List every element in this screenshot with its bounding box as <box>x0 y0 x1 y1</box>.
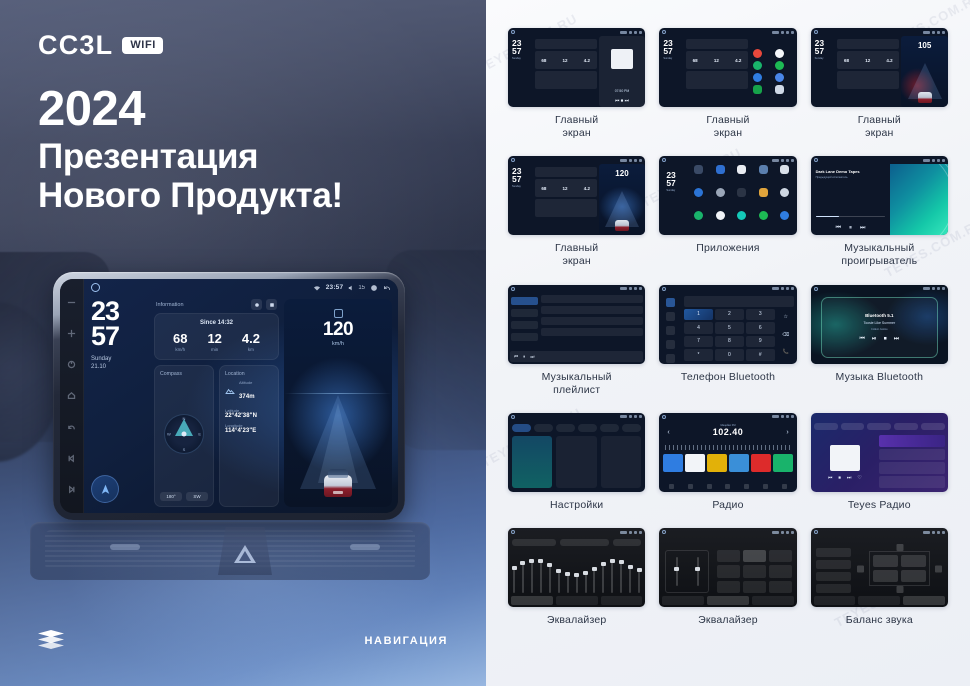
eq-preset-grid[interactable] <box>717 550 792 593</box>
progress-bar[interactable] <box>816 216 886 218</box>
balance-up-icon[interactable] <box>896 544 903 551</box>
altitude-value: 374m <box>239 394 255 400</box>
preset-button <box>663 454 683 472</box>
head-unit-screen[interactable]: 23:57 15 23 <box>84 279 398 513</box>
speaker-rl <box>873 570 898 582</box>
thumb-status-bar <box>811 156 948 164</box>
next-track-icon[interactable]: ⏭ <box>860 225 865 231</box>
thumbnail-caption: Teyes Радио <box>848 499 911 512</box>
screen-thumbnail-playlist[interactable]: ⏮⏸⏭ <box>508 285 645 364</box>
eq-slider <box>522 561 524 593</box>
track-artist: Предыдущий исполнитель <box>816 176 886 179</box>
stat-speed: 68 km/h <box>173 332 187 352</box>
speed-camera-icon <box>334 309 343 318</box>
prev-track-icon: ⏮ <box>828 475 833 481</box>
thumb-body: 2357Sunday 68124.2 105 <box>811 36 948 107</box>
thumbnail-caption: Эквалайзер <box>698 614 758 627</box>
status-time: 23:57 <box>326 284 344 291</box>
list-item <box>879 462 945 474</box>
tab-balance <box>556 596 598 605</box>
preset-button <box>773 454 793 472</box>
eq-slider <box>676 557 678 586</box>
favorite-icon: ☆ <box>783 314 787 320</box>
thumb-status-bar <box>811 285 948 293</box>
call-log-icon <box>666 340 675 349</box>
thumb-widgets: 68124.2 <box>684 36 750 107</box>
thumb-body: 2357Sunday 68124.2 <box>659 36 796 107</box>
thumb-clock: 2357Sunday <box>508 164 533 235</box>
vehicle-plate <box>333 491 343 494</box>
prev-track-icon[interactable] <box>67 453 77 463</box>
preset-button <box>743 550 766 562</box>
information-widget[interactable]: Information Since 14:32 <box>154 299 279 360</box>
more-tile[interactable] <box>601 436 641 488</box>
radio-toolbar[interactable] <box>662 483 793 490</box>
eq-tabs[interactable] <box>511 596 642 605</box>
dial-key[interactable]: 0 <box>715 349 744 361</box>
album-art <box>830 445 860 471</box>
console-button-left[interactable] <box>110 544 140 550</box>
stat-time-value: 12 <box>207 332 221 345</box>
teyes-tabs[interactable] <box>814 423 945 430</box>
refresh-icon[interactable] <box>251 299 262 310</box>
bt-track: Toosie Like Summer <box>863 321 895 325</box>
dial-key[interactable]: 1 <box>684 309 713 321</box>
vehicle-model <box>324 467 352 497</box>
screens-gallery-panel: TEYES.COM.RU TEYES.COM.RU TEYES.COM.RU T… <box>486 0 970 686</box>
since-label: Since 14:32 <box>163 320 270 326</box>
prev-track-icon: ⏮ <box>860 336 865 342</box>
eq-presets[interactable] <box>512 538 641 547</box>
thumb-minutes: 57 <box>512 47 533 55</box>
longitude-value: 114°4'23"E <box>225 428 273 434</box>
list-item <box>541 295 643 303</box>
screen-thumbnail-apps[interactable]: 2357Sunday <box>659 156 796 235</box>
gallery-item[interactable]: 2357Sunday <box>659 156 796 268</box>
preset-button <box>816 548 852 557</box>
thumbnail-caption: Баланс звука <box>846 614 913 627</box>
next-track-icon: ⏭ <box>530 354 534 359</box>
eq-slider <box>540 559 542 593</box>
back-arrow-icon[interactable] <box>67 422 77 432</box>
screen-thumbnail-home-media[interactable]: 2357Sunday 68124.2 07:50 PM⏮ ⏹ ⏭ <box>508 28 645 107</box>
app-icon-item[interactable] <box>694 211 703 232</box>
compass-title: Compass <box>160 371 208 377</box>
mountain-icon <box>225 383 235 401</box>
app-icon-item[interactable] <box>737 188 746 209</box>
gallery-item[interactable]: Dark Lane Demo Tapes Предыдущий исполнит… <box>811 156 948 268</box>
screen-thumbnail-settings[interactable] <box>508 413 645 492</box>
product-logo: CC3L WIFI <box>38 30 163 61</box>
screen-body: 23 57 Sunday 21.10 Information <box>84 296 398 513</box>
app-icon-item[interactable] <box>737 165 746 186</box>
status-wifi-icon[interactable] <box>313 284 321 292</box>
navigation-arrow-icon <box>99 483 112 496</box>
app-icon-item[interactable] <box>780 211 789 232</box>
headline-line-2: Нового Продукта! <box>38 176 343 215</box>
dial-key[interactable]: 3 <box>746 309 775 321</box>
speaker-grid[interactable] <box>869 551 930 586</box>
radio-frequency: 102.40 <box>659 427 796 437</box>
status-bar: 23:57 15 <box>84 279 398 296</box>
thumb-status-bar <box>659 413 796 421</box>
layers-icon <box>38 630 64 652</box>
panel-footer: НАВИГАЦИЯ <box>0 630 486 652</box>
gallery-item[interactable]: 1 2 3 4 5 6 7 8 9 * 0 # ☆⌫📞 Телефон Blue… <box>659 285 796 397</box>
tab-eq <box>814 596 856 605</box>
thumb-status-bar <box>659 285 796 293</box>
thumb-speed: 105 <box>901 41 948 50</box>
eq-slider <box>513 566 515 593</box>
hazard-triangle-icon <box>234 545 256 563</box>
navigation-horizon <box>284 393 392 394</box>
trip-stats: 68 km/h 12 min 4.2 <box>163 332 270 352</box>
compass-heading: 180° <box>160 492 182 501</box>
play-pause-icon: ⏯ <box>872 336 877 342</box>
dial-key[interactable]: # <box>746 349 775 361</box>
playlist-player-bar[interactable]: ⏮⏸⏭ <box>510 351 643 362</box>
balance-presets[interactable] <box>816 548 852 593</box>
screen-thumbnail-music-player[interactable]: Dark Lane Demo Tapes Предыдущий исполнит… <box>811 156 948 235</box>
app-grid[interactable] <box>690 165 794 232</box>
preset-button <box>816 572 852 581</box>
preset-button <box>769 565 792 577</box>
next-track-icon[interactable] <box>67 484 77 494</box>
gallery-item[interactable]: ⏮⏹⏭♡ Teyes Радио <box>811 413 948 512</box>
thumbnail-caption: Настройки <box>550 499 603 512</box>
wifi-tile[interactable] <box>512 436 552 488</box>
vehicle-window <box>328 469 348 478</box>
preset-button <box>707 454 727 472</box>
navigation-widget[interactable]: 120 km/h <box>284 299 392 507</box>
dial-key[interactable]: 4 <box>684 322 713 334</box>
compass-east: E <box>198 432 201 437</box>
app-icon-item[interactable] <box>759 188 768 209</box>
compass-west: W <box>167 432 171 437</box>
compass-widget[interactable]: Compass N E S W <box>154 365 214 507</box>
search-icon <box>688 484 693 489</box>
eq-dual-sliders[interactable] <box>665 550 709 593</box>
compass-direction: SW <box>186 492 208 501</box>
thumbnail-caption: Радио <box>712 499 743 512</box>
number-display <box>684 296 794 307</box>
status-settings-icon[interactable] <box>370 284 378 292</box>
thumb-status-bar <box>659 28 796 36</box>
list-item <box>879 476 945 488</box>
tab-balance <box>707 596 749 605</box>
app-icon-item[interactable] <box>780 188 789 209</box>
console-button-right[interactable] <box>350 544 380 550</box>
power-icon[interactable] <box>67 360 77 370</box>
next-track-icon: ⏭ <box>847 475 852 481</box>
stop-icon: ⏹ <box>884 336 887 342</box>
preset-button <box>743 565 766 577</box>
thumb-widgets: 68124.2 <box>533 36 599 107</box>
next-track-icon: ⏭ <box>894 336 899 342</box>
screen-thumbnail-bt-music[interactable]: Bluetooth 5.1 Toosie Like Summer Collect… <box>811 285 948 364</box>
screen-thumbnail-teyes-radio[interactable]: ⏮⏹⏭♡ <box>811 413 948 492</box>
tab-system <box>578 424 597 432</box>
speed-unit: km/h <box>284 341 392 347</box>
thumb-body: 2357Sunday 68124.2 07:50 PM⏮ ⏹ ⏭ <box>508 36 645 107</box>
tab-about <box>622 424 641 432</box>
tab-sound <box>534 424 553 432</box>
eq-slider <box>531 559 533 593</box>
preset-button <box>717 581 740 593</box>
thumb-status-bar <box>811 528 948 536</box>
search-icon <box>666 326 675 335</box>
thumb-clock: 2357Sunday <box>659 36 684 107</box>
head-unit-inner: 23:57 15 23 <box>60 279 398 513</box>
eq-tabs[interactable] <box>814 596 945 605</box>
thumbnail-caption: Главный экран <box>858 114 901 140</box>
altitude-row: Altitude 374m <box>225 380 273 403</box>
stat-time-unit: min <box>207 347 221 352</box>
screen-thumbnail-balance[interactable] <box>811 528 948 607</box>
eq-sliders[interactable] <box>513 550 640 593</box>
location-widget[interactable]: Location Altitude 374m <box>219 365 279 507</box>
app-icon-item[interactable] <box>737 211 746 232</box>
compass-wrap: N E S W <box>160 380 208 488</box>
screen-thumbnail-home-nav-red[interactable]: 2357Sunday 68124.2 105 <box>811 28 948 107</box>
tab-wifi <box>512 424 531 432</box>
bt-controls[interactable]: ⏮⏯⏹⏭ <box>860 336 900 342</box>
information-card: Since 14:32 68 km/h 12 min <box>154 313 279 360</box>
stat-speed-value: 68 <box>173 332 187 345</box>
app-icon-item[interactable] <box>694 165 703 186</box>
gallery-item[interactable]: Bluetooth 5.1 Toosie Like Summer Collect… <box>811 285 948 397</box>
tab-display <box>556 424 575 432</box>
dial-key[interactable]: 8 <box>715 336 744 348</box>
call-icon: 📞 <box>783 349 789 355</box>
list-item <box>541 328 643 336</box>
gallery-item[interactable]: Эквалайзер <box>508 528 645 627</box>
screen-thumbnail-home-apps[interactable]: 2357Sunday 68124.2 <box>659 28 796 107</box>
preset-button <box>729 454 749 472</box>
phone-actions[interactable]: ☆⌫📞 <box>777 309 795 361</box>
radio-presets[interactable] <box>663 454 792 472</box>
home-icon[interactable] <box>67 391 77 401</box>
gallery-item[interactable]: Баланс звука <box>811 528 948 627</box>
eq-icon <box>725 484 730 489</box>
thumb-media-widget: 07:50 PM⏮ ⏹ ⏭ <box>599 36 646 107</box>
thumb-speed: 120 <box>599 169 646 178</box>
screen-thumbnail-equalizer-2[interactable] <box>659 528 796 607</box>
tab-effects <box>903 596 945 605</box>
gallery-item[interactable]: 2357Sunday 68124.2 120 Главный экран <box>508 156 645 268</box>
gallery-item[interactable]: 2357Sunday 68124.2 Главный экран <box>659 28 796 140</box>
volume-up-icon[interactable] <box>67 329 77 339</box>
preset-button <box>717 565 740 577</box>
list-item <box>541 306 643 314</box>
app-icon-item[interactable] <box>759 165 768 186</box>
app-icon-item[interactable] <box>780 165 789 186</box>
altitude-label: Altitude <box>239 380 255 385</box>
teyes-now-playing: ⏮⏹⏭♡ <box>815 443 875 488</box>
balance-pad[interactable] <box>857 544 942 593</box>
dial-key[interactable]: 9 <box>746 336 775 348</box>
dial-key[interactable]: 6 <box>746 322 775 334</box>
information-title: Information <box>156 302 184 308</box>
tab-apps <box>600 424 619 432</box>
bt-header: Bluetooth 5.1 <box>865 313 894 318</box>
eq-slider <box>611 559 613 593</box>
preset-button <box>717 550 740 562</box>
bluetooth-tile[interactable] <box>556 436 596 488</box>
thumb-status-bar <box>508 413 645 421</box>
thumbnail-caption: Эквалайзер <box>547 614 607 627</box>
navigation-fab-button[interactable] <box>91 475 119 503</box>
home-icon <box>511 30 515 34</box>
tab-effects <box>601 596 643 605</box>
eq-slider <box>585 571 587 593</box>
playlist-rows[interactable] <box>541 295 643 350</box>
bt-card: Bluetooth 5.1 Toosie Like Summer Collect… <box>821 297 938 358</box>
eq-slider <box>620 560 622 593</box>
screens-grid: 2357Sunday 68124.2 07:50 PM⏮ ⏹ ⏭ Главный… <box>508 28 948 627</box>
settings-tiles[interactable] <box>512 436 641 488</box>
app-icon-item[interactable] <box>759 211 768 232</box>
thumbnail-caption: Телефон Bluetooth <box>681 371 775 384</box>
dialpad[interactable]: 1 2 3 4 5 6 7 8 9 * 0 # <box>684 309 775 361</box>
latitude-block: Latitude 22°42'38"N <box>225 408 273 419</box>
music-visualizer <box>890 164 948 235</box>
playback-controls[interactable]: ⏮ ⏸ ⏭ <box>811 225 891 231</box>
stat-time: 12 min <box>207 332 221 352</box>
compass-dial: N E S W <box>164 414 204 454</box>
compass-readouts: 180° SW <box>160 492 208 501</box>
speaker-fl <box>873 555 898 567</box>
dial-key[interactable]: 5 <box>715 322 744 334</box>
status-volume[interactable]: 15 <box>348 284 365 292</box>
location-title: Location <box>225 371 273 377</box>
gallery-item[interactable]: 2357Sunday 68124.2 105 Главный экран <box>811 28 948 140</box>
thumb-status-bar <box>508 528 645 536</box>
gallery-item[interactable]: Эквалайзер <box>659 528 796 627</box>
speaker-rr <box>901 570 926 582</box>
clock-minutes: 57 <box>91 324 149 349</box>
vehicle-model <box>918 92 932 103</box>
hazard-button[interactable] <box>218 527 272 575</box>
list-icon <box>707 484 712 489</box>
gallery-item[interactable]: ⏮⏸⏭ Музыкальный плейлист <box>508 285 645 397</box>
preset-button <box>685 454 705 472</box>
thumb-day: Sunday <box>512 57 533 60</box>
compass-south: S <box>183 447 186 452</box>
altitude-block: Altitude 374m <box>239 380 255 403</box>
headline-block: 2024 Презентация Нового Продукта! <box>38 85 343 215</box>
backspace-icon: ⌫ <box>782 332 789 338</box>
list-item <box>541 317 643 325</box>
clock-day: Sunday <box>91 355 149 364</box>
pause-icon: ⏸ <box>523 354 525 359</box>
app-icon-item[interactable] <box>716 188 725 209</box>
prev-track-icon[interactable]: ⏮ <box>836 225 841 231</box>
app-icon-item[interactable] <box>716 165 725 186</box>
eq-tabs[interactable] <box>662 596 793 605</box>
stat-distance-value: 4.2 <box>242 332 260 345</box>
clock-date: 21.10 <box>91 363 149 372</box>
speed-readout: 120 km/h <box>284 309 392 347</box>
preset-button <box>751 454 771 472</box>
vehicle-model <box>615 220 629 231</box>
dial-key[interactable]: * <box>684 349 713 361</box>
gallery-item[interactable]: Мацейко FM 102.40 ‹ › Радио <box>659 413 796 512</box>
tune-down-icon[interactable]: ‹ <box>667 429 669 436</box>
eq-slider <box>638 568 640 593</box>
apps-icon <box>782 484 787 489</box>
screen-thumbnail-equalizer-1[interactable] <box>508 528 645 607</box>
dial-key[interactable]: 7 <box>684 336 713 348</box>
settings-tabs[interactable] <box>512 424 641 432</box>
expand-icon[interactable] <box>266 299 277 310</box>
thumb-status-bar <box>659 528 796 536</box>
eq-slider <box>593 567 595 593</box>
latitude-value: 22°42'38"N <box>225 413 273 419</box>
contacts-icon <box>666 312 675 321</box>
gallery-item[interactable]: Настройки <box>508 413 645 512</box>
thumb-status-bar <box>508 28 645 36</box>
frequency-scale[interactable] <box>665 445 790 450</box>
track-title: Dark Lane Demo Tapes <box>816 169 886 174</box>
pause-icon[interactable]: ⏸ <box>849 225 852 231</box>
screen-thumbnail-dialer[interactable]: 1 2 3 4 5 6 7 8 9 * 0 # ☆⌫📞 <box>659 285 796 364</box>
rds-icon <box>744 484 749 489</box>
thumb-body: 2357Sunday 68124.2 120 <box>508 164 645 235</box>
stat-distance: 4.2 km <box>242 332 260 352</box>
dial-key[interactable]: 2 <box>715 309 744 321</box>
tab-eq <box>511 596 553 605</box>
teyes-station-list[interactable] <box>879 435 945 488</box>
app-icon-item[interactable] <box>716 211 725 232</box>
capacitive-button-strip[interactable] <box>60 279 84 513</box>
balance-down-icon[interactable] <box>896 586 903 593</box>
preset-button <box>816 560 852 569</box>
volume-down-icon[interactable] <box>67 298 77 308</box>
thumb-status-bar <box>508 156 645 164</box>
speed-value: 120 <box>284 320 392 339</box>
preset-button <box>743 581 766 593</box>
thumbnail-caption: Музыкальный проигрыватель <box>841 242 917 268</box>
footer-label: НАВИГАЦИЯ <box>365 635 448 647</box>
tune-up-icon[interactable]: › <box>786 429 788 436</box>
balance-left-icon[interactable] <box>857 565 864 572</box>
phone-sidebar[interactable] <box>659 293 681 364</box>
gallery-item[interactable]: 2357Sunday 68124.2 07:50 PM⏮ ⏹ ⏭ Главный… <box>508 28 645 140</box>
bt-artist: Collect Justice <box>871 328 888 331</box>
thumb-app-shortcuts <box>750 36 797 107</box>
headline-year: 2024 <box>38 85 343 135</box>
widgets-column: Information Since 14:32 <box>154 299 279 507</box>
wifi-badge: WIFI <box>122 37 163 54</box>
thumbnail-caption: Музыка Bluetooth <box>836 371 924 384</box>
status-home-icon[interactable] <box>91 283 100 292</box>
thumb-widgets: 68124.2 <box>533 164 599 235</box>
car-dashboard: 23:57 15 23 <box>0 222 486 686</box>
headline-line-1: Презентация <box>38 137 343 176</box>
status-back-icon[interactable] <box>383 284 391 292</box>
thumb-clock: 2357Sunday <box>508 36 533 107</box>
music-info: Dark Lane Demo Tapes Предыдущий исполнит… <box>811 164 891 235</box>
playback-controls[interactable]: ⏮⏹⏭♡ <box>815 475 875 481</box>
information-header: Information <box>154 299 279 313</box>
app-icon-item[interactable] <box>694 188 703 209</box>
screen-thumbnail-home-nav[interactable]: 2357Sunday 68124.2 120 <box>508 156 645 235</box>
screen-thumbnail-radio[interactable]: Мацейко FM 102.40 ‹ › <box>659 413 796 492</box>
thumb-status-bar <box>508 285 645 293</box>
thumb-clock: 2357Sunday <box>662 168 687 192</box>
balance-right-icon[interactable] <box>935 565 942 572</box>
